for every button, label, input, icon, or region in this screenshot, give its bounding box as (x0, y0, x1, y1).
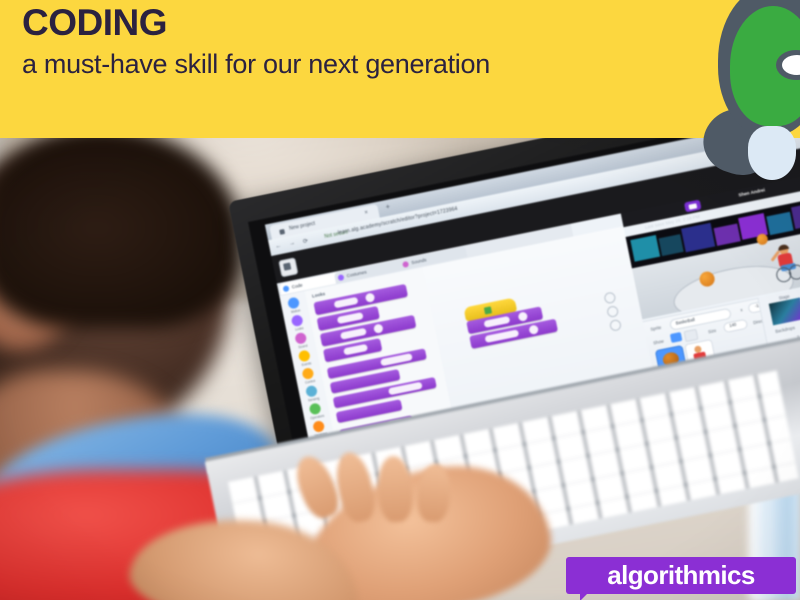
headline-banner: CODING a must-have skill for our next ge… (0, 0, 800, 138)
zoom-out-icon[interactable] (606, 305, 619, 318)
sprite-label: Sprite (650, 325, 662, 332)
show-on-button[interactable] (670, 332, 683, 343)
tab-code-label: Code (291, 282, 303, 289)
browser-tab-title: New project (289, 221, 316, 232)
brand-logo-text: algorithmics (566, 557, 796, 594)
new-tab-icon[interactable]: + (385, 203, 390, 211)
poster-canvas: New project × + ← → ⟳ Not secure learn.a… (0, 0, 800, 600)
message-icon[interactable] (684, 200, 702, 213)
backdrops-label: Backdrops (775, 325, 795, 334)
brush-icon (337, 274, 344, 281)
tab-sounds-label: Sounds (411, 257, 427, 265)
page-title: CODING (22, 4, 167, 43)
reload-icon[interactable]: ⟳ (302, 237, 308, 245)
x-label: x (740, 307, 743, 312)
size-label: Size (708, 328, 717, 335)
palette-title: Looks (312, 291, 326, 299)
tab-costumes-label: Costumes (346, 269, 367, 278)
close-icon[interactable]: × (364, 210, 369, 217)
favicon-icon (279, 229, 285, 235)
code-icon (283, 285, 290, 292)
zoom-reset-icon[interactable] (609, 319, 622, 332)
page-subtitle: a must-have skill for our next generatio… (22, 48, 682, 81)
forward-icon[interactable]: → (289, 240, 296, 247)
extension-icon (283, 262, 291, 270)
show-label: Show (653, 339, 664, 346)
speaker-icon (402, 261, 409, 268)
zoom-in-icon[interactable] (603, 291, 616, 304)
back-icon[interactable]: ← (275, 243, 282, 250)
show-off-button[interactable] (684, 329, 699, 342)
